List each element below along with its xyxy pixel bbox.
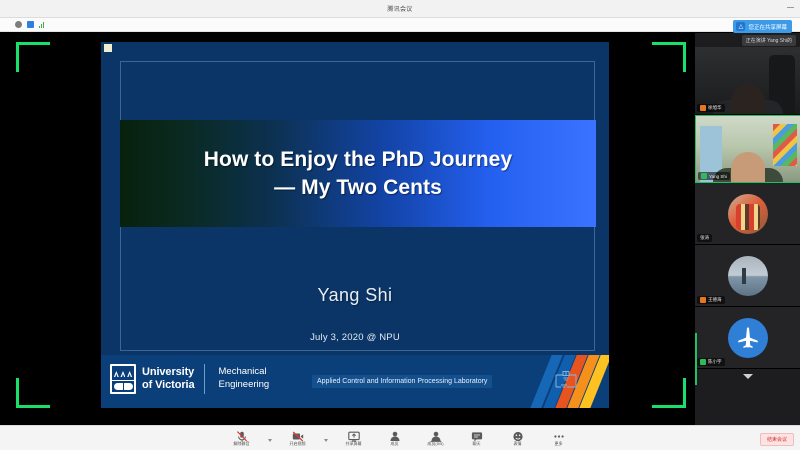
participant-name-badge: Yang Shi xyxy=(698,172,730,180)
share-corner-top-left xyxy=(16,42,50,72)
participant-tile-3[interactable]: 王德海 xyxy=(695,245,800,307)
mic-icon xyxy=(700,359,706,365)
toolbar-chat-button[interactable]: 聊天 xyxy=(462,429,492,447)
participant-tile-1[interactable]: Yang Shi xyxy=(695,115,800,183)
toolbar-manage-members-button[interactable]: 成员(5/5) xyxy=(421,429,451,447)
university-logo: University of Victoria Mechanical Engine… xyxy=(110,364,269,394)
slide-author: Yang Shi xyxy=(101,285,609,306)
tencent-meeting-window: 腾讯会议 △ 您正在共享屏幕 停止共享 暂停共享 How to Enjoy th… xyxy=(0,0,800,450)
participant-rail: 正在演讲 Yang Shi的 徐旭华 Yang Shi 张涛 xyxy=(694,33,800,425)
participant-name-badge: 陈小宇 xyxy=(697,358,725,366)
window-title: 腾讯会议 xyxy=(387,4,412,13)
share-corner-bottom-left xyxy=(16,378,50,408)
mic-muted-icon xyxy=(236,429,248,440)
signal-bars-icon xyxy=(39,21,44,28)
participant-name: 徐旭华 xyxy=(708,105,722,111)
toolbar-participants-button[interactable]: 成员 xyxy=(380,429,410,447)
university-name: University of Victoria xyxy=(142,366,195,392)
slide-corner-marker xyxy=(104,44,112,52)
toolbar-mic-button[interactable]: 解除静音 xyxy=(227,429,257,447)
active-speaker-indicator xyxy=(695,333,697,385)
toolbar-video-button[interactable]: 开启视频 xyxy=(283,429,313,447)
active-speaker-chip: 正在演讲 Yang Shi的 xyxy=(742,35,796,46)
more-icon xyxy=(553,429,565,440)
logo-divider xyxy=(204,364,205,394)
status-bar xyxy=(0,18,800,32)
department-name: Mechanical Engineering xyxy=(219,366,270,392)
share-corner-top-right xyxy=(652,42,686,72)
participant-name: 陈小宇 xyxy=(708,359,722,365)
share-screen-icon xyxy=(348,429,360,440)
participant-name-badge: 徐旭华 xyxy=(697,104,725,112)
participants-icon xyxy=(389,429,401,440)
toolbar-share-button[interactable]: 共享屏幕 xyxy=(339,429,369,447)
toolbar-more-button[interactable]: 更多 xyxy=(544,429,574,447)
mic-icon xyxy=(700,297,706,303)
slide-date: July 3, 2020 @ NPU xyxy=(101,332,609,343)
rail-expand-button[interactable] xyxy=(695,369,800,383)
participant-name-badge: 王德海 xyxy=(697,296,725,304)
video-options-chevron-icon[interactable] xyxy=(324,439,328,442)
slide-title-line-1: How to Enjoy the PhD Journey xyxy=(204,146,513,174)
presentation-slide: How to Enjoy the PhD Journey — My Two Ce… xyxy=(101,42,609,408)
slide-title-line-2: — My Two Cents xyxy=(274,174,442,202)
chat-icon xyxy=(471,429,483,440)
circuit-diagram-icon xyxy=(552,368,580,394)
video-icon xyxy=(292,429,304,440)
slide-footer: University of Victoria Mechanical Engine… xyxy=(101,355,609,408)
participant-head xyxy=(731,84,765,114)
meeting-toolbar: 解除静音 开启视频 共享屏幕 xyxy=(0,425,800,450)
avatar xyxy=(728,256,768,296)
chevron-down-icon xyxy=(743,374,753,379)
bluetooth-icon[interactable] xyxy=(27,21,34,28)
avatar xyxy=(728,194,768,234)
mic-options-chevron-icon[interactable] xyxy=(268,439,272,442)
gear-icon[interactable] xyxy=(15,21,22,28)
rail-header: 正在演讲 Yang Shi的 xyxy=(695,33,800,47)
mic-icon xyxy=(700,105,706,111)
footer-stripes xyxy=(489,355,609,408)
university-line-1: University xyxy=(142,366,195,379)
manage-members-icon xyxy=(430,429,442,440)
tile-decor xyxy=(773,124,797,166)
emoji-icon xyxy=(512,429,524,440)
avatar xyxy=(728,318,768,358)
share-screen-icon: △ xyxy=(736,22,745,31)
uvic-crest-icon xyxy=(110,364,136,394)
slide-title-band: How to Enjoy the PhD Journey — My Two Ce… xyxy=(120,120,596,227)
participant-name: 王德海 xyxy=(708,297,722,303)
sharing-badge[interactable]: △ 您正在共享屏幕 xyxy=(733,20,792,33)
minimize-button[interactable] xyxy=(787,7,794,8)
lab-name: Applied Control and Information Processi… xyxy=(312,375,492,388)
participant-name-badge: 张涛 xyxy=(697,234,712,242)
window-titlebar: 腾讯会议 xyxy=(0,0,800,18)
university-line-2: of Victoria xyxy=(142,379,195,392)
participant-name: 张涛 xyxy=(700,235,709,241)
participant-tile-0[interactable]: 徐旭华 xyxy=(695,47,800,115)
participant-tile-2[interactable]: 张涛 xyxy=(695,183,800,245)
participant-head xyxy=(731,152,765,182)
toolbar-emoji-button[interactable]: 表情 xyxy=(503,429,533,447)
end-meeting-button[interactable]: 结束会议 xyxy=(760,433,794,446)
department-line-2: Engineering xyxy=(219,379,270,392)
share-corner-bottom-right xyxy=(652,378,686,408)
participant-tile-4[interactable]: 陈小宇 xyxy=(695,307,800,369)
airplane-icon xyxy=(735,325,761,351)
mic-icon xyxy=(701,173,707,179)
participant-name: Yang Shi xyxy=(709,174,727,179)
department-line-1: Mechanical xyxy=(219,366,270,379)
sharing-badge-label: 您正在共享屏幕 xyxy=(748,23,787,31)
